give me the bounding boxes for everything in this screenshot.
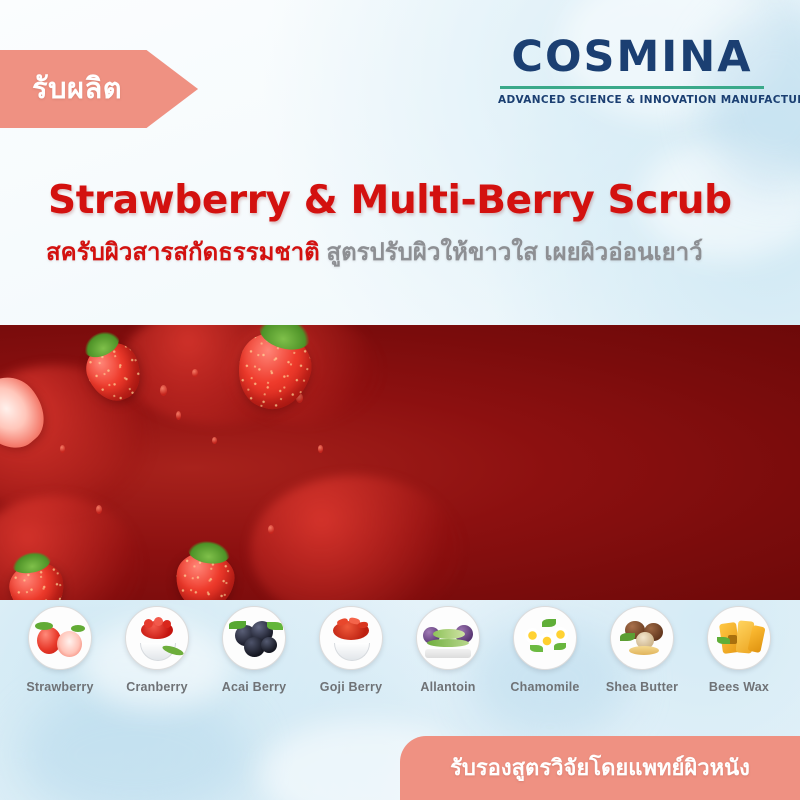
- subtitle-secondary: สูตรปรับผิวให้ขาวใส เผยผิวอ่อนเยาว์: [326, 239, 702, 266]
- ingredient-label: Cranberry: [109, 680, 205, 694]
- goji-berry-bowl-icon: [319, 606, 383, 670]
- shea-butter-icon: [610, 606, 674, 670]
- ingredient-item-cranberry: Cranberry: [109, 600, 205, 694]
- logo-wordmark: COSMINA: [498, 36, 766, 79]
- certification-banner: รับรองสูตรวิจัยโดยแพทย์ผิวหนัง: [400, 736, 800, 800]
- ingredient-item-acai: Acai Berry: [206, 600, 302, 694]
- ingredient-item-shea-butter: Shea Butter: [594, 600, 690, 694]
- promo-poster: รับผลิต COSMINA ADVANCED SCIENCE & INNOV…: [0, 0, 800, 800]
- ingredient-label: Goji Berry: [303, 680, 399, 694]
- brand-logo: COSMINA ADVANCED SCIENCE & INNOVATION MA…: [498, 36, 766, 106]
- ingredient-label: Shea Butter: [594, 680, 690, 694]
- ingredient-item-allantoin: Allantoin: [400, 600, 496, 694]
- chamomile-flower-icon: [513, 606, 577, 670]
- logo-tagline: ADVANCED SCIENCE & INNOVATION MANUFACTUR…: [498, 94, 766, 106]
- ingredient-label: Acai Berry: [206, 680, 302, 694]
- ingredient-item-strawberry: Strawberry: [12, 600, 108, 694]
- strawberry-icon: [28, 606, 92, 670]
- honeycomb-icon: [707, 606, 771, 670]
- ingredient-label: Strawberry: [12, 680, 108, 694]
- certification-banner-label: รับรองสูตรวิจัยโดยแพทย์ผิวหนัง: [450, 757, 750, 779]
- subtitle-highlight: สครับผิวสารสกัดธรรมชาติ: [46, 239, 320, 266]
- logo-divider-line: [500, 86, 764, 89]
- ingredient-label: Chamomile: [497, 680, 593, 694]
- product-title: Strawberry & Multi-Berry Scrub: [48, 180, 732, 223]
- ribbon-label: รับผลิต: [0, 75, 122, 104]
- ingredient-item-goji: Goji Berry: [303, 600, 399, 694]
- ingredient-item-bees-wax: Bees Wax: [691, 600, 787, 694]
- strawberry-decoration: [172, 549, 237, 600]
- product-subtitle: สครับผิวสารสกัดธรรมชาติ สูตรปรับผิวให้ขา…: [46, 238, 703, 268]
- ingredient-strip: Strawberry Cranberry Acai Berr: [0, 600, 800, 730]
- allantoin-icon: [416, 606, 480, 670]
- acai-berry-icon: [222, 606, 286, 670]
- ingredient-label: Bees Wax: [691, 680, 787, 694]
- ingredient-label: Allantoin: [400, 680, 496, 694]
- ingredient-item-chamomile: Chamomile: [497, 600, 593, 694]
- product-hero-band: Your Brand 🍓 STRAWBERRY 🍓 & MULTIBERRY S…: [0, 325, 800, 600]
- cranberry-bowl-icon: [125, 606, 189, 670]
